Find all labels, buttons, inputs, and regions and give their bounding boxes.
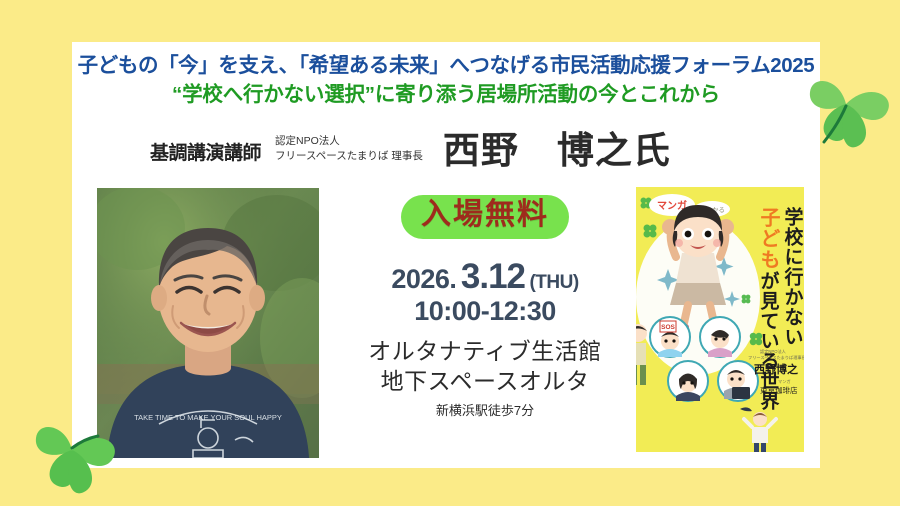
- event-details-column: 入場無料 2026. 3.12 (THU) 10:00-12:30 オルタナティ…: [340, 195, 630, 419]
- venue-access-note: 新横浜駅徒歩7分: [340, 400, 630, 419]
- speaker-organization: 認定NPO法人 フリースペースたまりば 理事長: [275, 134, 423, 169]
- speaker-org-line1: 認定NPO法人: [275, 134, 423, 149]
- keynote-role-label: 基調講演講師: [150, 138, 261, 169]
- forum-title-line2: “学校へ行かない選択”に寄り添う居場所活動の今とこれから: [72, 80, 820, 111]
- svg-text:学校に行かない: 学校に行かない: [782, 206, 805, 347]
- speaker-photo: TAKE TIME TO MAKE YOUR SOUL HAPPY: [97, 188, 319, 458]
- event-date-day: 3.12: [461, 257, 525, 296]
- title-block: 子どもの「今」を支え、「希望ある未来」へつなげる市民活動応援フォーラム2025 …: [72, 52, 820, 110]
- book-author-affiliation2: フリースペースたまりば理事長: [748, 354, 804, 361]
- speaker-org-line2: フリースペースたまりば 理事長: [275, 149, 423, 164]
- event-date-year: 2026.: [391, 264, 456, 294]
- forum-title-line1: 子どもの「今」を支え、「希望ある未来」へつなげる市民活動応援フォーラム2025: [72, 52, 820, 80]
- venue-name-line1: オルタナティブ生活館: [340, 336, 630, 366]
- free-admission-badge: 入場無料: [401, 195, 569, 239]
- clover-bottom-left-icon: [26, 398, 122, 498]
- book-manga-credit-name: 東京珈琲店: [760, 385, 798, 395]
- shirt-print-text: TAKE TIME TO MAKE YOUR SOUL HAPPY: [134, 413, 282, 422]
- clover-top-right-icon: [800, 60, 896, 160]
- book-sos-text: SOS: [661, 324, 675, 331]
- book-author-name: 西野博之: [754, 362, 798, 376]
- event-time: 10:00-12:30: [340, 295, 630, 329]
- book-manga-credit-label: マンガ: [778, 378, 791, 385]
- venue-name-line2: 地下スペースオルタ: [340, 366, 630, 396]
- speaker-row: 基調講演講師 認定NPO法人 フリースペースたまりば 理事長 西野 博之氏: [150, 132, 790, 169]
- event-date-line: 2026. 3.12 (THU): [340, 259, 630, 296]
- book-cover-image: マンガ でわかる: [636, 187, 804, 452]
- poster-canvas: 子どもの「今」を支え、「希望ある未来」へつなげる市民活動応援フォーラム2025 …: [0, 0, 900, 506]
- svg-text:子ども: 子ども: [757, 207, 780, 270]
- event-date-dayofweek: (THU): [529, 272, 578, 293]
- speaker-name: 西野 博之氏: [443, 132, 671, 169]
- book-author-affiliation1: 認定NPO法人: [760, 348, 787, 355]
